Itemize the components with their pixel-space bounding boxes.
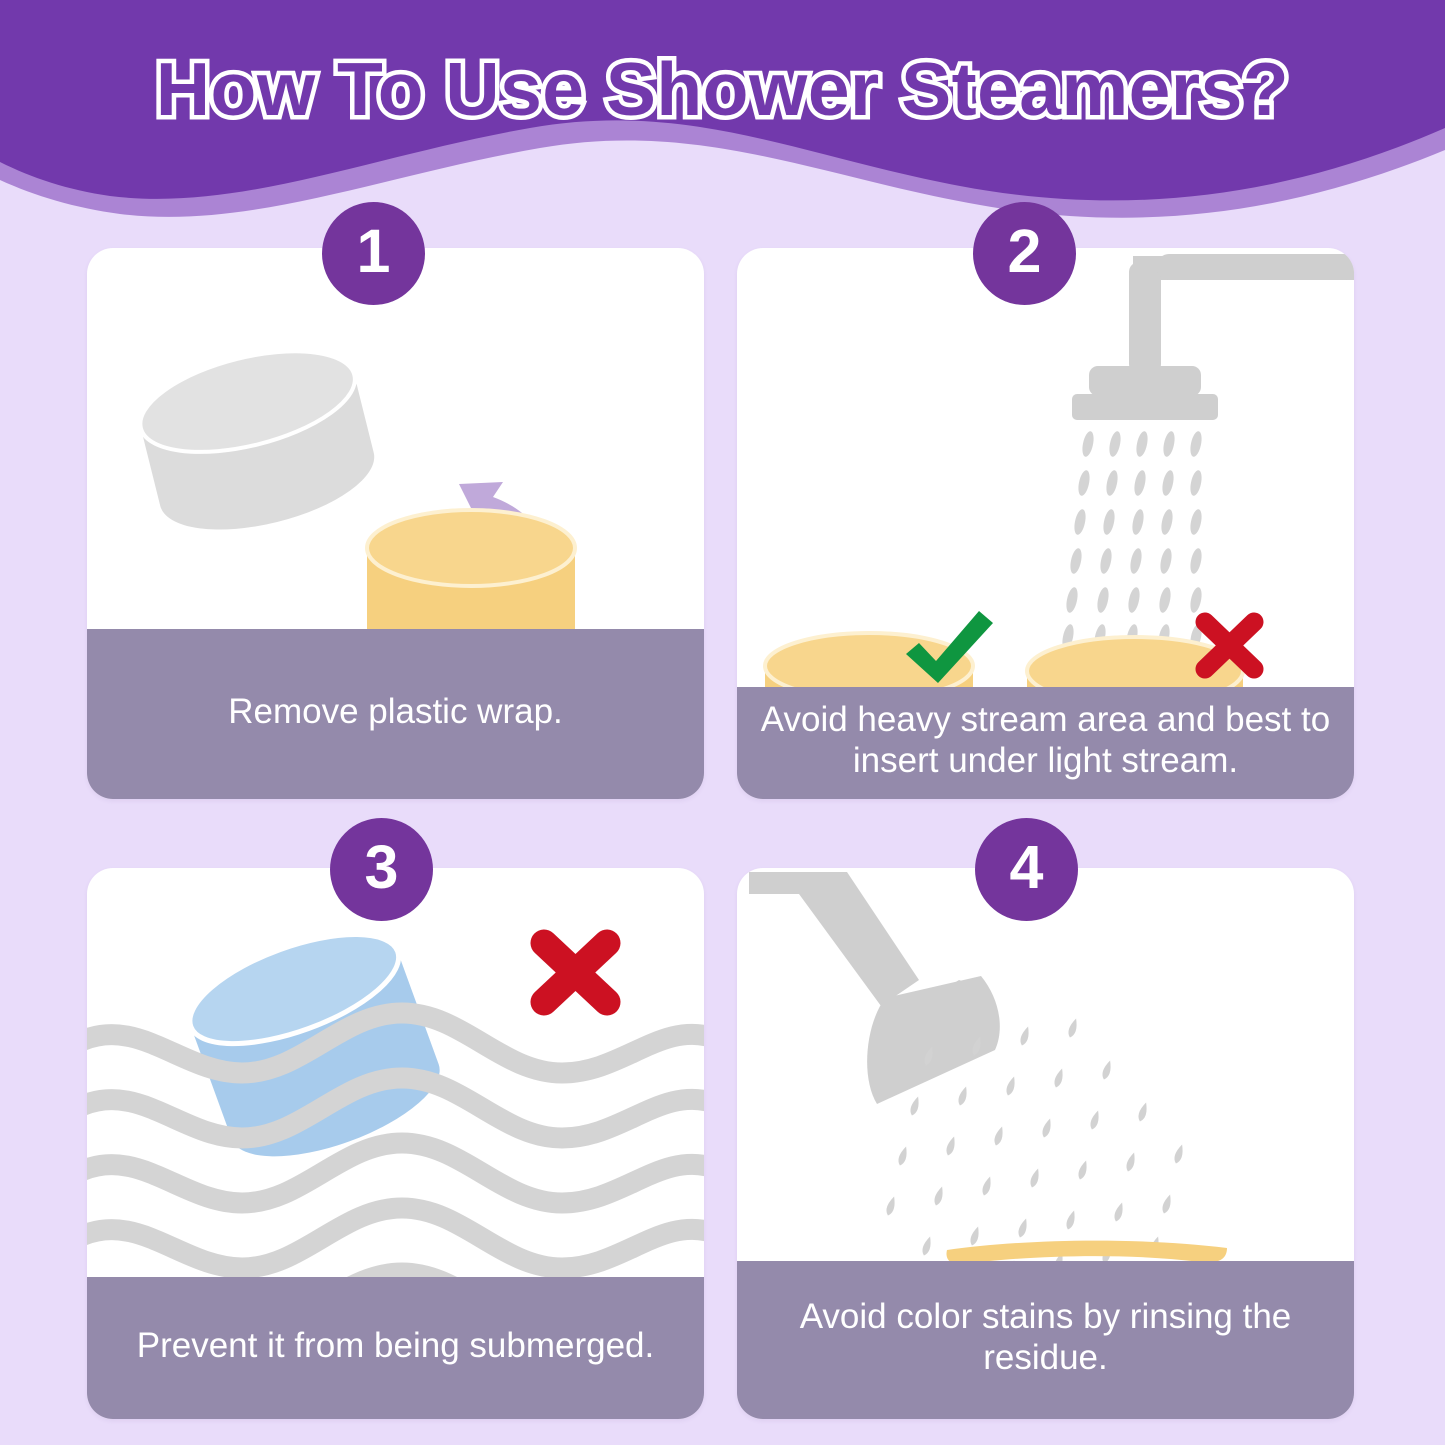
step-4-caption: Avoid color stains by rinsing the residu… xyxy=(737,1261,1354,1419)
step-3-caption: Prevent it from being submerged. xyxy=(87,1277,704,1419)
header-banner: How To Use Shower Steamers? xyxy=(0,0,1445,230)
water-droplets-icon xyxy=(1060,430,1203,651)
step-2-caption: Avoid heavy stream area and best to inse… xyxy=(737,687,1354,799)
plastic-wrap-disc-icon xyxy=(130,332,384,548)
page-title: How To Use Shower Steamers? xyxy=(0,46,1445,132)
cross-mark-icon xyxy=(544,943,607,1002)
step-card-1[interactable]: Remove plastic wrap. xyxy=(87,248,704,799)
step-1-caption: Remove plastic wrap. xyxy=(87,629,704,799)
angled-shower-head-icon xyxy=(749,872,1000,1104)
shower-head-icon xyxy=(1072,254,1354,420)
step-badge-3: 3 xyxy=(330,818,433,921)
step-badge-1: 1 xyxy=(322,202,425,305)
step-badge-4: 4 xyxy=(975,818,1078,921)
step-card-4[interactable]: Avoid color stains by rinsing the residu… xyxy=(737,868,1354,1419)
step-badge-2: 2 xyxy=(973,202,1076,305)
step-card-2[interactable]: Avoid heavy stream area and best to inse… xyxy=(737,248,1354,799)
step-card-3[interactable]: Prevent it from being submerged. xyxy=(87,868,704,1419)
